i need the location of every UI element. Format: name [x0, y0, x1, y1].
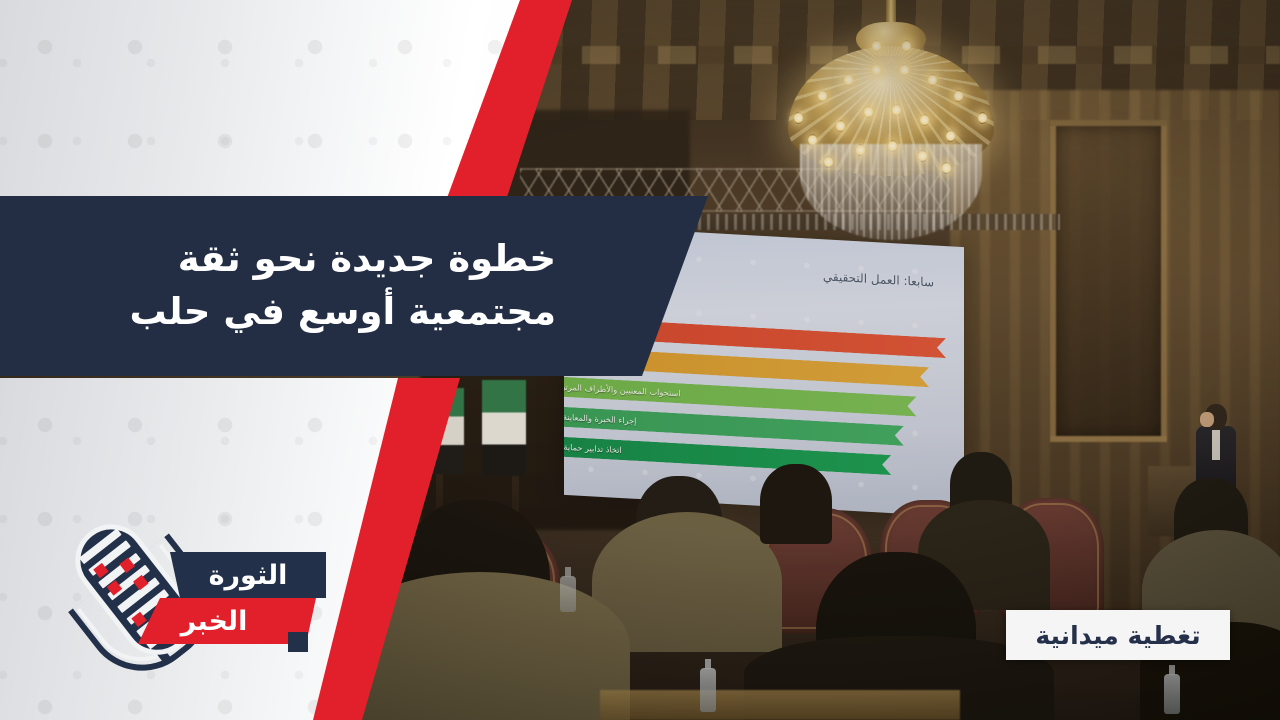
audience-person — [760, 464, 832, 544]
water-bottle — [560, 576, 576, 612]
headline-line-2: مجتمعية أوسع في حلب — [130, 286, 557, 339]
wall-mirror-panel — [1050, 120, 1167, 442]
status-badge: تغطية ميدانية — [1006, 610, 1230, 660]
news-thumbnail: سابعا: العمل التحقيقي ضبط الحوادث والأفع… — [0, 0, 1280, 720]
logo-word-top-text: الثورة — [209, 560, 288, 591]
slide-bar-label: اتخاذ تدابير حماية المال العام — [564, 440, 622, 455]
chandelier-icon — [760, 0, 1020, 264]
slide-bar-label: إجراء الخبرة والمعاينة عند الحاجة — [564, 410, 636, 426]
status-badge-label: تغطية ميدانية — [1035, 621, 1200, 650]
headline-band: خطوة جديدة نحو ثقة مجتمعية أوسع في حلب — [0, 196, 708, 376]
banquet-table — [600, 690, 960, 720]
dot-pattern-small — [0, 0, 520, 198]
decorative-panel-top — [0, 0, 520, 198]
slide-bar-label: استجواب المعنيين والأطراف المرتبطة بالقض… — [564, 380, 681, 399]
headline-line-1: خطوة جديدة نحو ثقة — [178, 233, 556, 286]
logo-accent-square — [288, 632, 308, 652]
flag-right — [482, 380, 526, 476]
logo-word-top: الثورة — [170, 552, 326, 598]
water-bottle — [700, 668, 716, 712]
water-bottle — [1164, 674, 1180, 714]
logo-word-bottom-text: الخبر — [181, 606, 274, 637]
channel-logo[interactable]: الثورة الخبر — [52, 508, 332, 668]
